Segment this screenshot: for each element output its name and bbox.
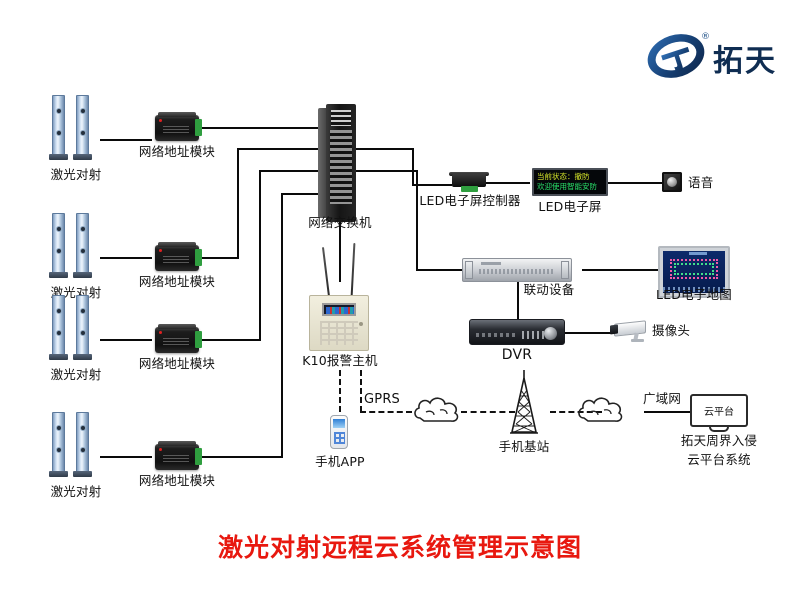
laser-4-label: 激光对射 (45, 485, 107, 499)
wire-module2-seg-h2 (237, 148, 321, 150)
cloud-icon (412, 392, 464, 430)
wire-laser4-module4 (100, 456, 152, 458)
module-3-label: 网络地址模块 (131, 357, 223, 371)
wire-module3-seg-h1 (199, 339, 261, 341)
cloud-platform-caption-1: 拓天周界入侵 (655, 434, 783, 448)
dvr-label: DVR (487, 347, 547, 363)
module-terminal-icon (195, 119, 202, 136)
laser-1-label: 激光对射 (45, 168, 107, 182)
controller-terminal-icon (461, 186, 478, 192)
module-power-led-icon (159, 448, 162, 451)
k10-alarm-host-label: K10报警主机 (296, 354, 384, 368)
wire-module4-seg-h1 (199, 456, 283, 458)
wire-laser1-module1 (100, 139, 152, 141)
wire-switch-ledctrl-v (412, 148, 414, 186)
network-switch-label: 网络交换机 (292, 216, 388, 230)
monitor-stand-icon (709, 427, 729, 432)
wire-module2-seg-h1 (199, 257, 239, 259)
k10-alarm-host[interactable] (309, 295, 369, 351)
wire-k10-gprs-dashed (360, 370, 362, 412)
laser-post-icon (52, 295, 65, 355)
gprs-link-label: GPRS (364, 393, 408, 408)
wire-module1-switch (199, 127, 321, 129)
switch-ports-icon (330, 130, 352, 204)
wire-module2-seg-v (237, 148, 239, 259)
wire-ledctrl-in (412, 184, 452, 186)
led-display-screen[interactable]: 当前状态：撤防 欢迎使用智能安防 (532, 168, 608, 196)
module-power-led-icon (159, 119, 162, 122)
k10-display-icon (322, 303, 356, 316)
cloud-platform-screen-label: 云平台 (690, 403, 748, 418)
wire-k10-app-dashed (339, 370, 341, 412)
dvr-jog-dial-icon (544, 327, 557, 340)
laser-barrier-2[interactable] (50, 213, 102, 279)
phone-keypad-icon (334, 432, 345, 444)
cctv-camera-icon[interactable] (610, 320, 652, 342)
wire-ledctrl-ledscreen (486, 182, 530, 184)
wire-switch-linkage-h (350, 170, 418, 172)
laser-barrier-1[interactable] (50, 95, 102, 161)
wire-dvr-camera (564, 332, 612, 334)
brand-logo: ® 拓天 (645, 32, 790, 84)
laser-3-label: 激光对射 (45, 368, 107, 382)
wire-wan-cloudplatform (644, 411, 690, 413)
antenna-icon (351, 243, 356, 297)
led-screen-line2: 欢迎使用智能安防 (537, 182, 603, 192)
linkage-device[interactable] (462, 258, 572, 282)
module-power-led-icon (159, 331, 162, 334)
laser-post-icon (52, 95, 65, 155)
wire-linkage-in (416, 269, 462, 271)
tuotian-logo-icon (645, 32, 707, 80)
mobile-phone-app[interactable] (330, 415, 348, 449)
laser-post-icon (76, 95, 89, 155)
wire-switch-k10 (339, 222, 341, 282)
phone-screen-icon (333, 419, 345, 428)
cell-tower-icon (496, 370, 552, 438)
wire-linkage-ledmap (582, 269, 658, 271)
network-address-module-4[interactable] (155, 444, 199, 470)
network-switch[interactable] (318, 104, 360, 222)
wire-module4-seg-h2 (281, 193, 321, 195)
module-4-label: 网络地址模块 (131, 474, 223, 488)
network-address-module-3[interactable] (155, 327, 199, 353)
diagram-title: 激光对射远程云系统管理示意图 (0, 528, 800, 564)
laser-barrier-4[interactable] (50, 412, 102, 478)
led-screen-controller[interactable] (452, 172, 486, 192)
led-screen-label: LED电子屏 (531, 200, 609, 214)
mobile-app-label: 手机APP (308, 455, 372, 469)
laser-post-icon (76, 213, 89, 273)
cloud-platform-monitor[interactable]: 云平台 (690, 394, 748, 434)
base-station-label: 手机基站 (489, 440, 559, 454)
dvr-device[interactable] (469, 319, 565, 345)
laser-post-icon (76, 412, 89, 472)
network-address-module-1[interactable] (155, 115, 199, 141)
wire-switch-linkage-v (416, 170, 418, 271)
antenna-icon (322, 247, 330, 297)
led-screen-line1: 当前状态：撤防 (537, 172, 603, 182)
wan-link-label: 广域网 (634, 392, 690, 406)
cloud-icon (576, 392, 628, 430)
switch-status-leds-icon (331, 110, 351, 126)
registered-mark: ® (701, 32, 710, 42)
wire-laser3-module3 (100, 339, 152, 341)
module-1-label: 网络地址模块 (131, 145, 223, 159)
voice-speaker-icon[interactable] (662, 172, 682, 192)
k10-keypad-icon (320, 321, 358, 345)
wire-module4-seg-v (281, 193, 283, 458)
wire-laser2-module2 (100, 257, 152, 259)
module-terminal-icon (195, 331, 202, 348)
laser-post-icon (52, 213, 65, 273)
camera-label: 摄像头 (652, 324, 710, 338)
wire-gprs-cloud-dashed (360, 411, 412, 413)
voice-label: 语音 (688, 176, 728, 190)
module-power-led-icon (159, 249, 162, 252)
brand-name: 拓天 (713, 36, 777, 80)
wire-module3-seg-h2 (259, 170, 321, 172)
laser-post-icon (52, 412, 65, 472)
diagram-canvas: ® 拓天 激光对射 (0, 0, 800, 600)
led-controller-label: LED电子屏控制器 (415, 194, 525, 208)
module-terminal-icon (195, 249, 202, 266)
laser-barrier-3[interactable] (50, 295, 102, 361)
module-2-label: 网络地址模块 (131, 275, 223, 289)
linkage-device-label: 联动设备 (509, 283, 589, 297)
wire-module3-seg-v (259, 170, 261, 341)
module-terminal-icon (195, 448, 202, 465)
network-address-module-2[interactable] (155, 245, 199, 271)
cloud-platform-caption-2: 云平台系统 (655, 453, 783, 467)
wire-ledscreen-voice (608, 182, 662, 184)
led-map-label: LED电子地图 (649, 288, 739, 302)
laser-post-icon (76, 295, 89, 355)
